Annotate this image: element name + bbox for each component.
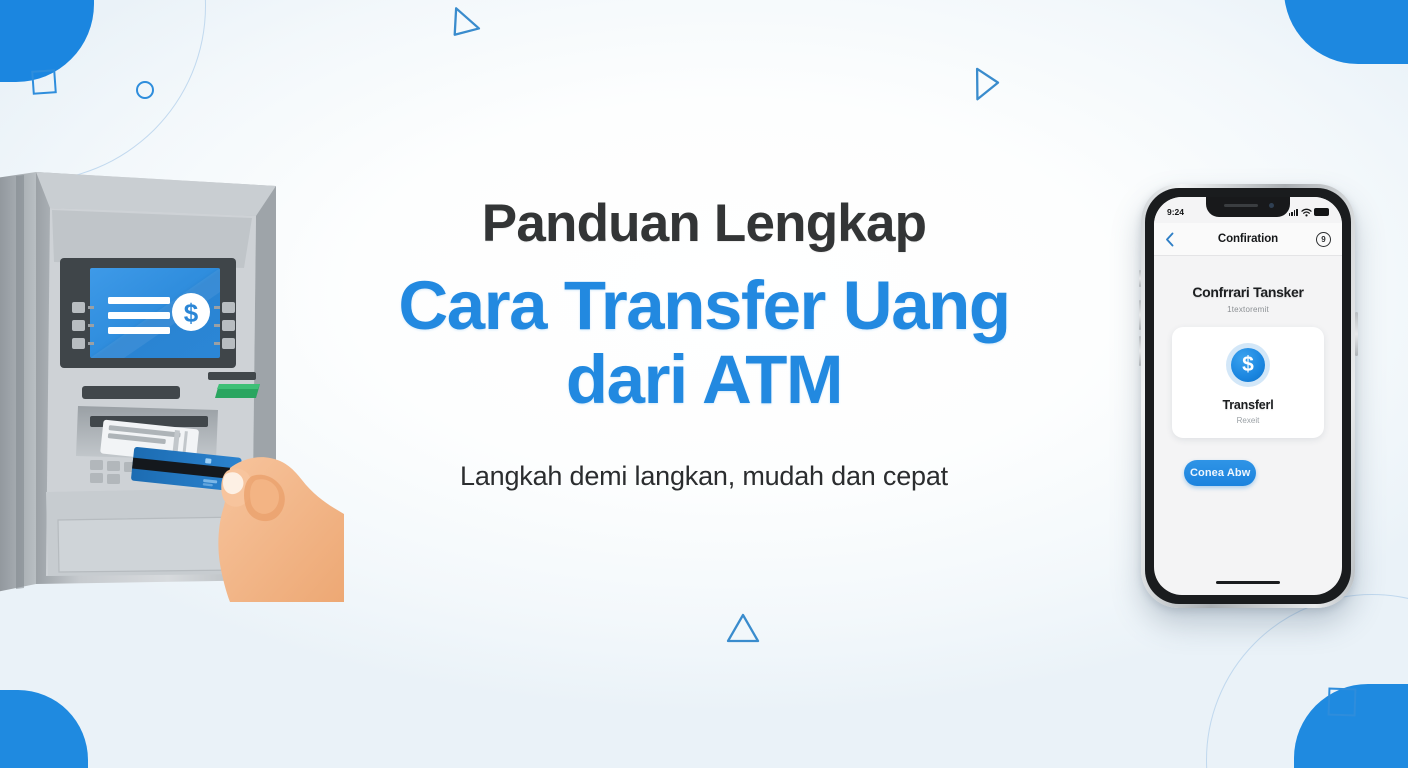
battery-full-icon — [1314, 208, 1329, 216]
dollar-coin-icon: $ — [1226, 343, 1270, 387]
phone-volume-up-button[interactable] — [1139, 300, 1142, 330]
headline-line-1: Cara Transfer Uang — [398, 267, 1009, 344]
panel-subtitle: 1textoremit — [1170, 305, 1326, 314]
blob-top-left-icon — [0, 0, 94, 82]
phone-notch — [1206, 197, 1290, 217]
triangle-bottom-center-icon — [725, 612, 761, 649]
nav-title: Confiration — [1154, 233, 1342, 245]
transfer-card-label: Transferl — [1182, 398, 1314, 412]
confirm-transfer-button[interactable]: Conea Abw — [1184, 460, 1256, 486]
promo-banner: $ — [0, 0, 1408, 768]
phone-bezel: 9:24 Confiration — [1145, 188, 1351, 604]
front-camera-icon — [1269, 203, 1274, 208]
speaker-icon — [1224, 204, 1258, 207]
phone-power-button[interactable] — [1355, 312, 1358, 356]
home-indicator[interactable] — [1216, 581, 1280, 584]
panel-title: Confrrari Tansker — [1170, 284, 1326, 300]
status-time: 9:24 — [1167, 207, 1184, 217]
app-nav-bar: Confiration 9 — [1154, 223, 1342, 256]
status-indicators — [1289, 208, 1329, 217]
triangle-top-right-icon — [961, 57, 1010, 104]
phone-mute-switch[interactable] — [1139, 270, 1142, 287]
phone-screen: 9:24 Confiration — [1154, 197, 1342, 595]
phone-volume-down-button[interactable] — [1139, 336, 1142, 366]
transfer-card-sublabel: Rexeit — [1182, 416, 1314, 425]
signal-bars-icon — [1289, 209, 1298, 216]
screen-content: Confrrari Tansker 1textoremit $ Transfer… — [1154, 256, 1342, 486]
blob-bottom-left-icon — [0, 690, 88, 768]
transfer-card[interactable]: $ Transferl Rexeit — [1172, 327, 1324, 438]
wifi-icon — [1301, 208, 1312, 217]
blob-bottom-right-icon — [1294, 684, 1408, 768]
blob-top-right-icon — [1284, 0, 1408, 64]
circle-top-left-icon — [136, 81, 154, 99]
dollar-coin-symbol: $ — [1231, 348, 1265, 382]
triangle-top-center-icon — [444, 4, 486, 48]
phone-mockup: 9:24 Confiration — [1141, 184, 1355, 608]
